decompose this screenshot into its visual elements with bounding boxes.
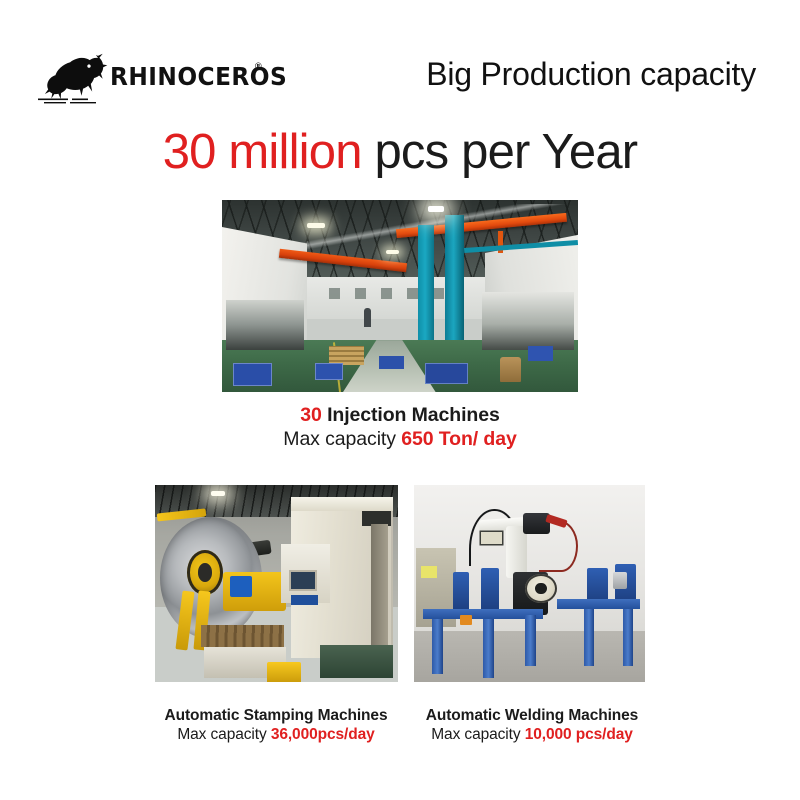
blue-crate: [379, 356, 404, 369]
rhino-silhouette-icon: [36, 52, 114, 104]
caption-line-2: Max capacity 36,000pcs/day: [142, 726, 410, 745]
max-capacity-value: 650 Ton/ day: [401, 428, 516, 450]
registered-trademark-icon: ®: [255, 61, 262, 71]
max-capacity-label: Max capacity: [177, 726, 270, 743]
press-column: [371, 524, 388, 646]
injection-machine-row-right: [482, 292, 575, 350]
blue-crate: [233, 363, 272, 386]
table-leg: [483, 619, 493, 678]
max-capacity-value: 10,000 pcs/day: [525, 726, 633, 743]
ceiling-lamp: [307, 223, 325, 228]
control-box: [460, 615, 472, 625]
max-capacity-value: 36,000pcs/day: [271, 726, 375, 743]
press-crown: [291, 497, 393, 511]
wooden-skids: [201, 625, 284, 647]
welding-robot-photo: [414, 485, 645, 682]
ceiling-lamp: [386, 250, 399, 254]
caption-line-2: Max capacity 10,000 pcs/day: [402, 726, 662, 745]
brand-logo: RHINOCEROS ®: [36, 52, 266, 108]
feeder-drive-unit: [230, 576, 252, 598]
robot-forearm: [506, 526, 527, 577]
caption-injection-machines: 30 Injection Machines Max capacity 650 T…: [0, 404, 800, 452]
decoiler-shaft: [198, 563, 213, 582]
max-capacity-label: Max capacity: [283, 428, 401, 450]
robot-display: [481, 532, 502, 544]
caption-welding-machines: Automatic Welding Machines Max capacity …: [402, 707, 662, 745]
blue-crate: [315, 363, 343, 380]
welding-fixture: [453, 572, 469, 611]
caption-stamping-machines: Automatic Stamping Machines Max capacity…: [142, 707, 410, 745]
die-cart: [320, 645, 393, 678]
table-leg: [525, 615, 537, 666]
page-header: RHINOCEROS ® Big Production capacity: [0, 52, 800, 108]
welding-fixture: [481, 568, 499, 611]
table-leg: [623, 609, 633, 666]
table-leg: [584, 609, 594, 666]
table-leg: [432, 619, 442, 674]
yellow-guard-box: [267, 662, 301, 682]
control-keypad: [291, 595, 318, 605]
blue-crate: [425, 363, 468, 384]
ceiling-lamp: [211, 491, 225, 496]
max-capacity-label: Max capacity: [431, 726, 524, 743]
fixture-table-right: [557, 599, 640, 609]
headline-highlight: 30 million: [163, 125, 362, 179]
welding-fixture: [587, 568, 608, 603]
material-sack: [500, 357, 521, 382]
wire-feed-spool: [525, 574, 557, 604]
factory-hall-photo: [222, 200, 578, 392]
injection-machine-label: Injection Machines: [322, 404, 500, 426]
caption-line-2: Max capacity 650 Ton/ day: [0, 428, 800, 452]
back-wall-windows: [329, 288, 457, 299]
stamping-machine-photo: [155, 485, 398, 682]
injection-machine-count: 30: [300, 404, 322, 426]
worker-figure: [364, 308, 371, 327]
blue-crate: [528, 346, 553, 361]
caption-line-1: 30 Injection Machines: [0, 404, 800, 428]
headline: 30 million pcs per Year: [0, 126, 800, 179]
caption-line-1: Automatic Stamping Machines: [142, 707, 410, 726]
page-title: Big Production capacity: [426, 56, 756, 93]
headline-rest: pcs per Year: [362, 125, 638, 179]
injection-machine-row-left: [226, 300, 304, 350]
control-screen: [291, 572, 315, 590]
ceiling-lamp: [428, 206, 444, 212]
fixture-cylinder: [613, 572, 627, 590]
caption-line-1: Automatic Welding Machines: [402, 707, 662, 726]
cabinet-warning-label: [421, 566, 437, 578]
